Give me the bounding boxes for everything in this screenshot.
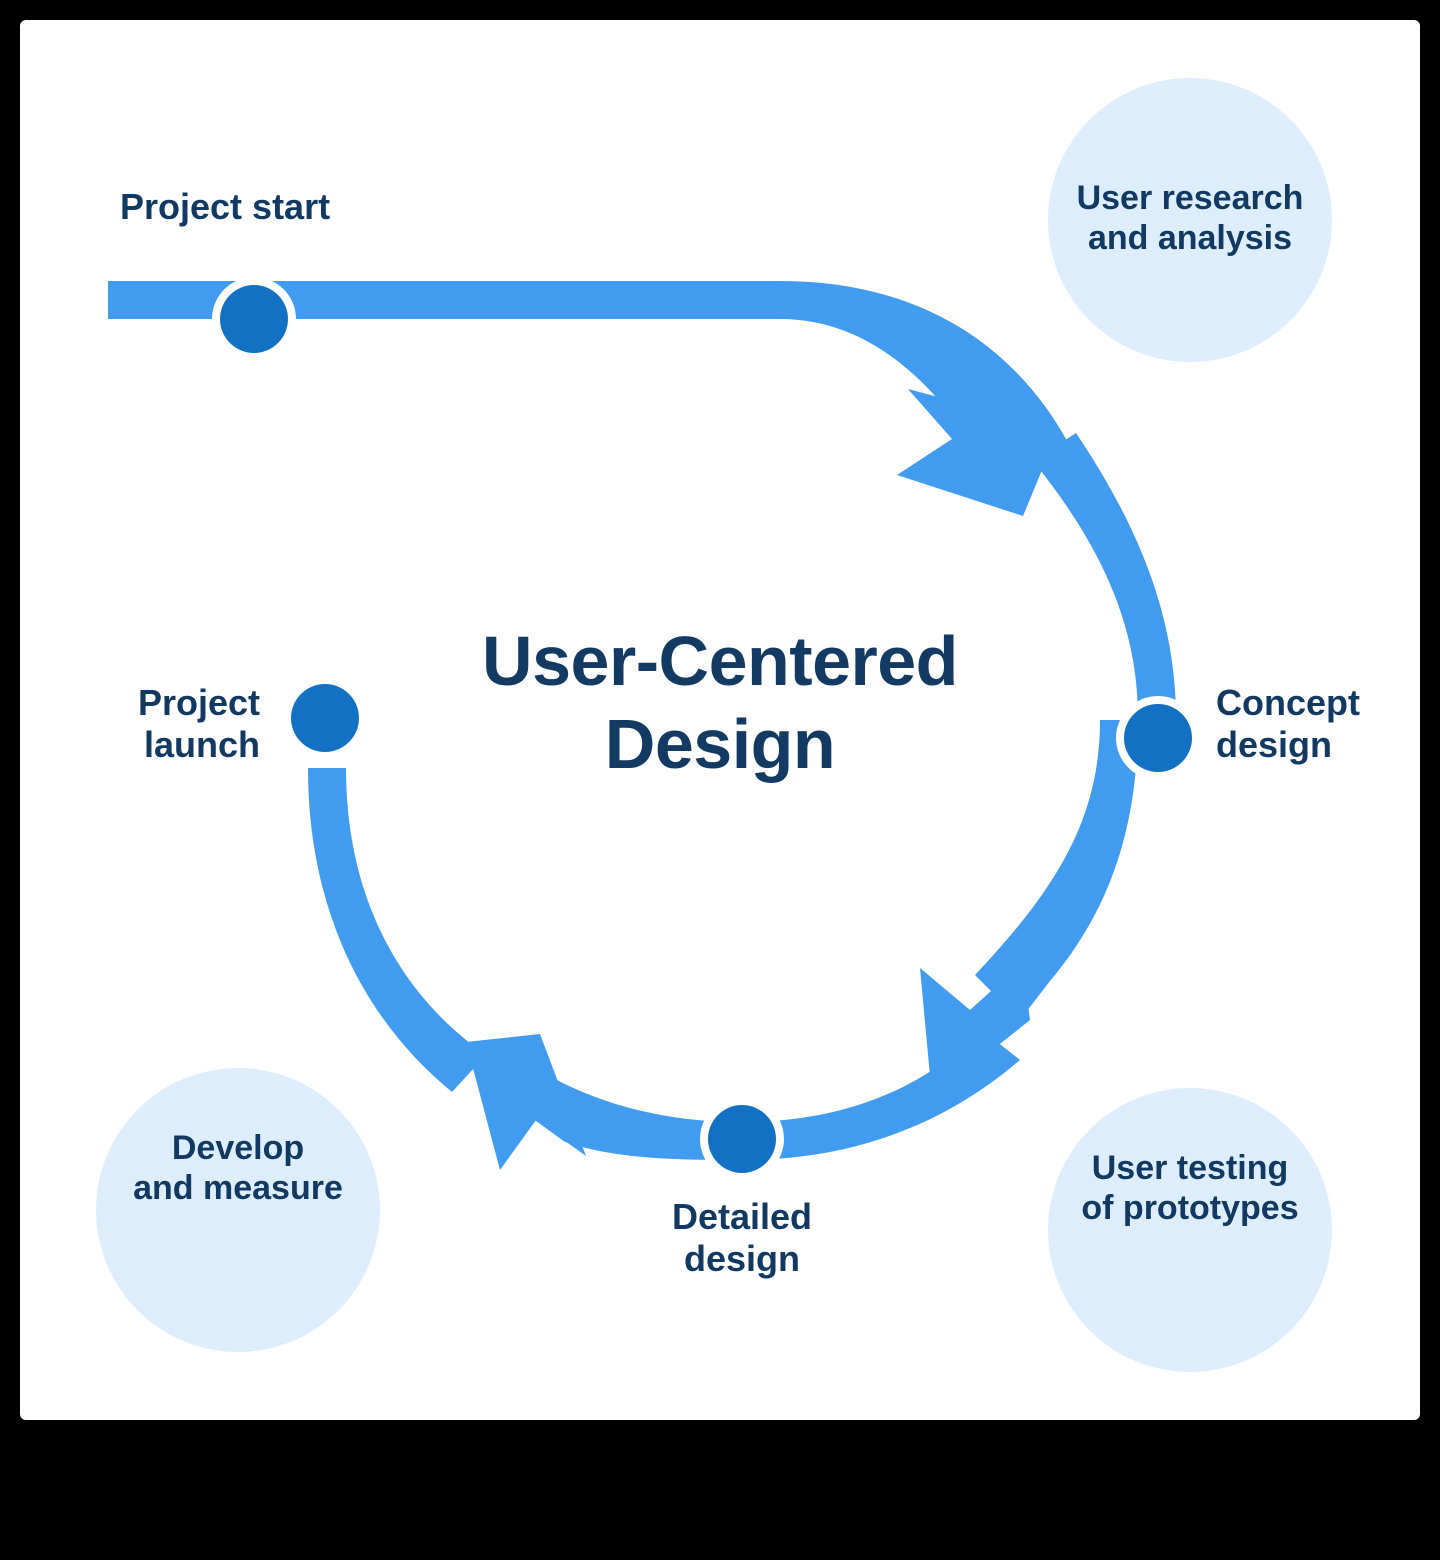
- node-label-concept-design: Concept design: [1216, 682, 1360, 767]
- node-label-project-launch: Project launch: [40, 682, 260, 767]
- diagram-canvas: User-Centered Design Project start Conce…: [20, 20, 1420, 1420]
- arrow-segment-detailed-to-launch: [308, 768, 742, 1170]
- soft-circle-label-user-research: User research and analysis: [1046, 178, 1334, 258]
- image-frame: User-Centered Design Project start Conce…: [0, 0, 1440, 1560]
- node-label-detailed-design: Detailed design: [592, 1196, 892, 1281]
- center-title: User-Centered Design: [370, 620, 1070, 785]
- soft-circle-label-user-testing: User testing of prototypes: [1046, 1148, 1334, 1228]
- arrow-segment-concept-to-detailed: [742, 720, 1138, 1160]
- node-dot-project-launch: [291, 684, 359, 752]
- soft-circle-user-testing: [1048, 1088, 1332, 1372]
- node-dot-concept-design: [1124, 704, 1192, 772]
- node-dot-project-start: [220, 285, 288, 353]
- soft-circle-label-develop-and-measure: Develop and measure: [94, 1128, 382, 1208]
- node-label-project-start: Project start: [120, 186, 330, 228]
- soft-circle-develop-and-measure: [96, 1068, 380, 1352]
- node-dot-detailed-design: [708, 1105, 776, 1173]
